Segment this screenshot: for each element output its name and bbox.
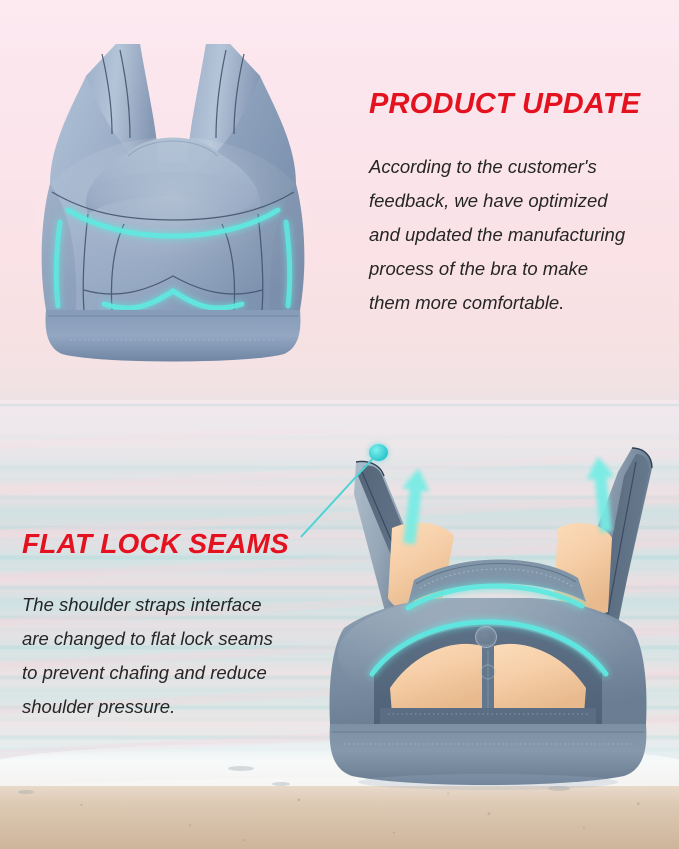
body-line: and updated the manufacturing [369,218,669,252]
body-line: them more comfortable. [369,286,669,320]
inner-liner-strip [380,708,596,724]
body-line: to prevent chafing and reduce [22,656,318,690]
pebble [228,766,254,771]
brand-logo-badge-icon [475,626,497,648]
body-line: process of the bra to make [369,252,669,286]
sports-bra-inside-view-image [296,432,679,808]
body-line: shoulder pressure. [22,690,318,724]
horizon-line [0,404,679,407]
product-update-body: According to the customer's feedback, we… [369,150,669,320]
pebble [18,790,34,794]
body-line: are changed to flat lock seams [22,622,318,656]
sports-bra-back-view-image [8,14,338,369]
body-line: The shoulder straps interface [22,588,318,622]
bra-bottom-band [46,310,301,362]
flat-lock-seams-body: The shoulder straps interface are change… [22,588,318,724]
body-line: feedback, we have optimized [369,184,669,218]
body-line: According to the customer's [369,150,669,184]
product-update-title: PRODUCT UPDATE [369,88,640,121]
callout-endpoint-dot [369,444,388,461]
flat-lock-seams-title: FLAT LOCK SEAMS [22,528,289,560]
pebble [272,782,290,786]
infographic-canvas: PRODUCT UPDATE According to the customer… [0,0,679,849]
band-bottom-shadow [358,774,618,790]
